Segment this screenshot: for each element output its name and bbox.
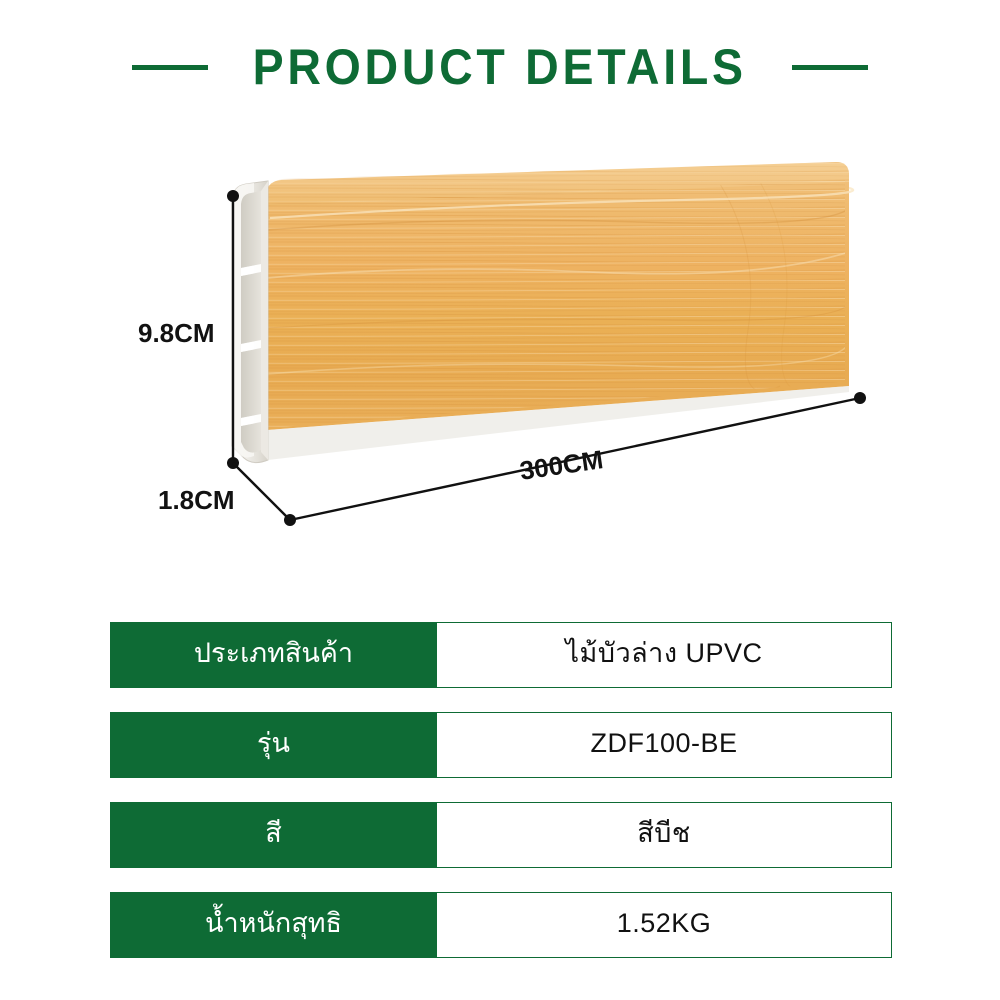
product-details-page: PRODUCT DETAILS	[0, 0, 1000, 1000]
height-dim-endpoint-top	[227, 190, 239, 202]
profile-front-lip	[261, 181, 268, 460]
page-title: PRODUCT DETAILS	[253, 42, 747, 92]
depth-dimension-line	[233, 463, 290, 520]
table-row: ประเภทสินค้า ไม้บัวล่าง UPVC	[110, 622, 892, 688]
dimension-label-depth: 1.8CM	[158, 485, 235, 516]
spec-value-product-type: ไม้บัวล่าง UPVC	[437, 622, 892, 688]
spec-label-net-weight: น้ำหนักสุทธิ	[110, 892, 437, 958]
spec-value-color: สีบีช	[437, 802, 892, 868]
length-dim-endpoint	[854, 392, 866, 404]
profile-chamber-1	[241, 191, 261, 268]
table-row: น้ำหนักสุทธิ 1.52KG	[110, 892, 892, 958]
header-divider-right-icon	[792, 65, 868, 70]
product-diagram-svg	[120, 160, 900, 560]
spec-value-net-weight: 1.52KG	[437, 892, 892, 958]
spec-value-model: ZDF100-BE	[437, 712, 892, 778]
specification-table: ประเภทสินค้า ไม้บัวล่าง UPVC รุ่น ZDF100…	[110, 622, 892, 958]
page-header: PRODUCT DETAILS	[0, 36, 1000, 98]
profile-chamber-4	[241, 422, 261, 453]
profile-chamber-3	[241, 348, 261, 418]
table-row: รุ่น ZDF100-BE	[110, 712, 892, 778]
spec-label-model: รุ่น	[110, 712, 437, 778]
table-row: สี สีบีช	[110, 802, 892, 868]
spec-label-product-type: ประเภทสินค้า	[110, 622, 437, 688]
dimension-label-height: 9.8CM	[138, 318, 215, 349]
header-divider-left-icon	[132, 65, 208, 70]
spec-label-color: สี	[110, 802, 437, 868]
product-illustration: 9.8CM 1.8CM 300CM	[120, 160, 900, 560]
profile-chamber-2	[241, 272, 261, 344]
